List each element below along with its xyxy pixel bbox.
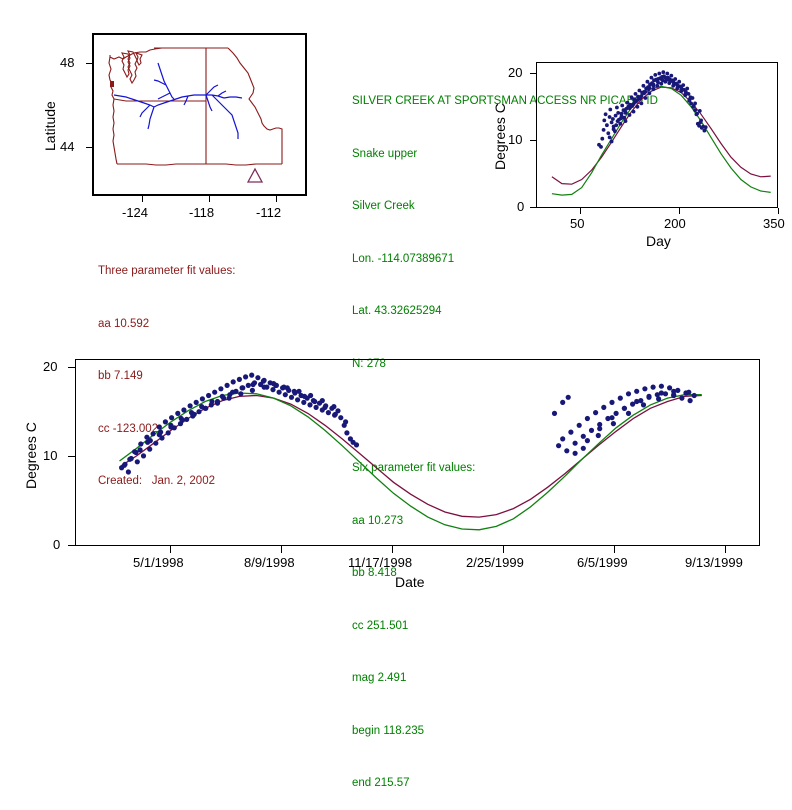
date-xtick-2 <box>281 546 282 553</box>
day-ytick-10 <box>530 140 536 141</box>
date-ytick-label-20: 20 <box>43 359 57 374</box>
station-lon: Lon. -114.07389671 <box>352 251 658 269</box>
date-ytick-10 <box>68 456 75 457</box>
day-ytick-label-20: 20 <box>508 65 522 80</box>
date-xtick-label-4: 2/25/1999 <box>466 555 524 570</box>
map-ytick-label-48: 48 <box>60 55 74 70</box>
date-xlabel: Date <box>395 574 425 590</box>
date-xtick-4 <box>503 546 504 553</box>
date-ytick-label-10: 10 <box>43 448 57 463</box>
day-ytick-label-0: 0 <box>517 199 524 214</box>
map-xtick-3 <box>276 196 277 202</box>
location-map: 48 44 -124 -118 -112 Latitude <box>92 33 307 196</box>
day-xtick-200 <box>679 208 680 214</box>
station-lat: Lat. 43.32625294 <box>352 303 658 321</box>
map-ytick-label-44: 44 <box>60 139 74 154</box>
date-xtick-1 <box>170 546 171 553</box>
date-ytick-20 <box>68 367 75 368</box>
day-xtick-label-350: 350 <box>763 216 785 231</box>
date-xtick-label-2: 8/9/1998 <box>244 555 295 570</box>
map-xtick-label-112: -112 <box>256 205 281 220</box>
date-series-chart: 20 10 0 5/1/1998 8/9/1998 11/17/1998 2/2… <box>75 359 760 546</box>
six-param-cc: cc 251.501 <box>352 618 658 636</box>
map-xtick-1 <box>142 196 143 202</box>
map-xtick-label-124: -124 <box>122 205 148 220</box>
six-param-end: end 215.57 <box>352 775 658 793</box>
day-xlabel: Day <box>646 233 671 249</box>
date-xtick-3 <box>392 546 393 553</box>
map-ylabel: Latitude <box>42 101 58 151</box>
date-xtick-label-3: 11/17/1998 <box>348 555 412 570</box>
day-xtick-label-200: 200 <box>664 216 686 231</box>
day-ylabel: Degrees C <box>492 103 508 170</box>
date-xtick-label-1: 5/1/1998 <box>133 555 184 570</box>
six-param-begin: begin 118.235 <box>352 723 658 741</box>
three-param-heading: Three parameter fit values: <box>98 263 235 281</box>
day-ytick-20 <box>530 73 536 74</box>
day-xtick-50 <box>580 208 581 214</box>
date-xtick-label-6: 9/13/1999 <box>685 555 743 570</box>
date-xtick-label-5: 6/5/1999 <box>577 555 628 570</box>
day-ytick-0 <box>530 207 536 208</box>
three-param-aa: aa 10.592 <box>98 316 235 334</box>
date-ylabel: Degrees C <box>23 422 39 489</box>
site-marker-icon <box>248 169 262 182</box>
date-ytick-0 <box>68 545 75 546</box>
map-xtick-label-118: -118 <box>189 205 214 220</box>
day-xtick-350 <box>778 208 779 214</box>
day-chart-plot <box>536 62 778 208</box>
date-ytick-label-0: 0 <box>53 537 60 552</box>
day-xtick-label-50: 50 <box>570 216 584 231</box>
date-xtick-6 <box>725 546 726 553</box>
map-xtick-2 <box>209 196 210 202</box>
day-of-year-chart: 20 10 0 50 200 350 Day Degrees C <box>536 62 778 208</box>
map-graphic <box>92 33 307 196</box>
six-param-mag: mag 2.491 <box>352 670 658 688</box>
map-ytick-48 <box>86 63 92 64</box>
date-chart-plot <box>75 359 760 546</box>
date-xtick-5 <box>614 546 615 553</box>
day-ytick-label-10: 10 <box>508 132 522 147</box>
map-ytick-44 <box>86 147 92 148</box>
